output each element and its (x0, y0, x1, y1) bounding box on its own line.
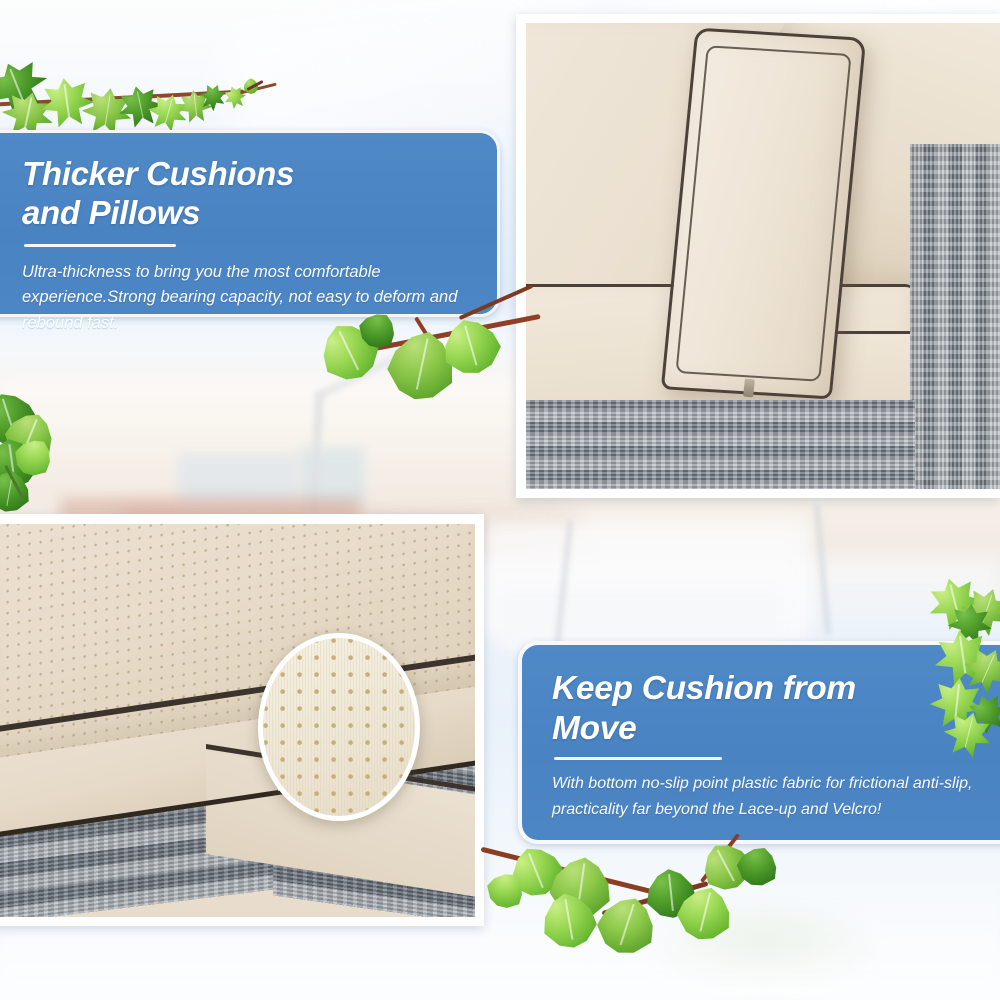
panel-body-text: With bottom no-slip point plastic fabric… (552, 771, 988, 822)
panel-heading: Thicker Cushions and Pillows (22, 155, 471, 233)
photo-content (526, 23, 1000, 489)
panel-heading: Keep Cushion from Move (552, 669, 988, 748)
feature-panel-thicker-cushions: Thicker Cushions and Pillows Ultra-thick… (0, 130, 500, 317)
feature-panel-keep-cushion-from-move: Keep Cushion from Move With bottom no-sl… (518, 641, 1000, 844)
heading-underline (24, 244, 176, 247)
magnifier-inset (258, 633, 420, 821)
cushion-pillow-photo (516, 14, 1000, 498)
zipper-pull-icon (743, 379, 755, 398)
wicker-armrest (910, 144, 1000, 489)
panel-body-text: Ultra-thickness to bring you the most co… (22, 260, 471, 337)
heading-underline (554, 757, 722, 760)
back-pillow (660, 28, 865, 400)
wicker-base (526, 400, 915, 489)
